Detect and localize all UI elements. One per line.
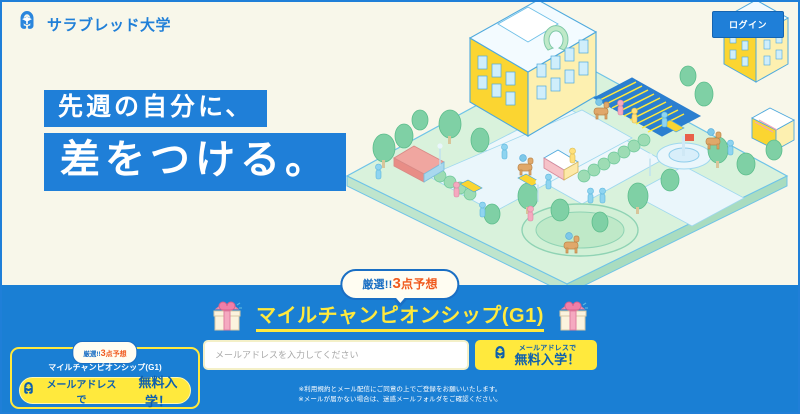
hero-copy: 先週の自分に、 差をつける。	[44, 90, 346, 191]
horseshoe-icon	[491, 346, 509, 364]
selection-badge-number: 3	[392, 275, 401, 292]
landing-page: サラブレッド大学 ログイン 先週の自分に、 差をつける。 厳選!!3点予想	[0, 0, 800, 414]
race-title: マイルチャンピオンシップ(G1)	[256, 305, 544, 327]
brand-logo[interactable]: サラブレッド大学	[14, 11, 171, 37]
floating-badge-prefix: 厳選!!	[83, 351, 100, 358]
selection-badge-prefix: 厳選!!	[362, 279, 392, 291]
selection-badge-suffix: 点予想	[401, 277, 438, 291]
floating-button-label-2: 無料入学！	[126, 372, 190, 410]
race-title-underline	[256, 329, 544, 332]
hero-headline-line1: 先週の自分に、	[44, 90, 267, 127]
email-input[interactable]	[203, 340, 469, 370]
cta-small-label: メールアドレスで	[514, 345, 580, 352]
floating-selection-badge: 厳選!!3点予想	[72, 341, 137, 364]
floating-badge-suffix: 点予想	[106, 351, 127, 358]
cta-big-label: 無料入学！	[514, 353, 580, 366]
horseshoe-graduation-cap-icon	[14, 11, 40, 37]
floating-free-signup-button[interactable]: メールアドレスで 無料入学！	[19, 377, 191, 404]
selection-badge: 厳選!!3点予想	[340, 269, 459, 300]
login-button[interactable]: ログイン	[712, 11, 784, 38]
cta-text-group: メールアドレスで 無料入学！	[514, 345, 580, 366]
horseshoe-icon	[20, 382, 37, 399]
race-title-wrap: マイルチャンピオンシップ(G1)	[256, 305, 544, 332]
hero-section: サラブレッド大学 ログイン 先週の自分に、 差をつける。	[2, 2, 798, 285]
brand-name: サラブレッド大学	[47, 14, 171, 35]
floating-signup-card[interactable]: 厳選!!3点予想 マイルチャンピオンシップ(G1) メールアドレスで 無料入学！	[10, 347, 200, 409]
hero-headline-line2: 差をつける。	[44, 133, 346, 191]
gift-box-icon	[210, 301, 244, 335]
floating-button-label-1: メールアドレスで	[42, 376, 121, 406]
free-signup-button[interactable]: メールアドレスで 無料入学！	[475, 340, 597, 370]
top-navigation-bar: サラブレッド大学 ログイン	[2, 2, 798, 46]
gift-box-icon	[556, 301, 590, 335]
